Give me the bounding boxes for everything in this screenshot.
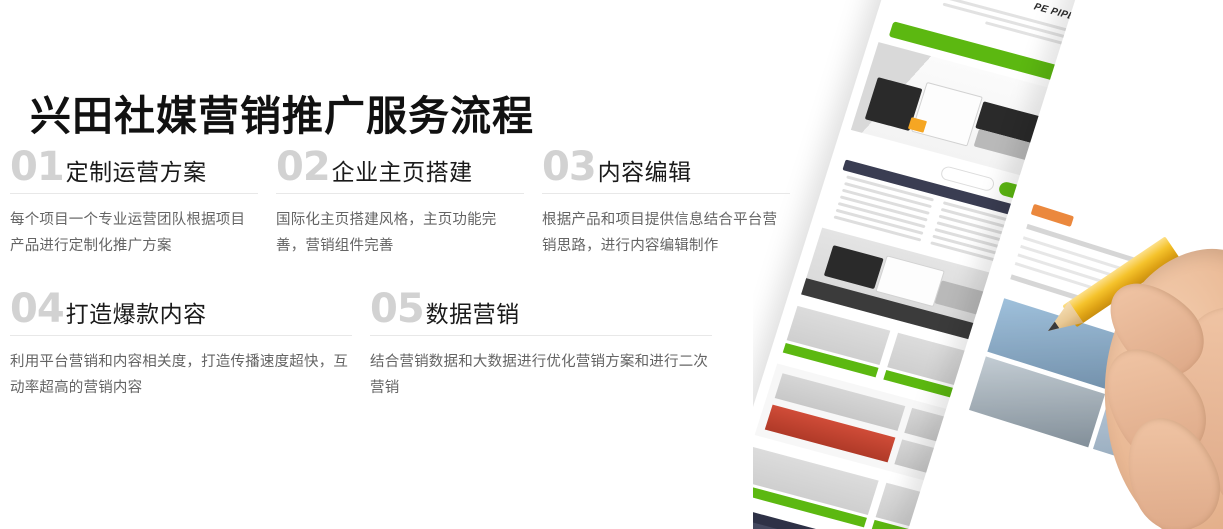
step-number: 03 <box>542 147 596 187</box>
step-label: 内容编辑 <box>598 161 692 184</box>
step-header: 01 定制运营方案 <box>10 147 258 194</box>
step-description: 利用平台营销和内容相关度，打造传播速度超快，互动率超高的营销内容 <box>10 349 352 401</box>
promo-banner: ||4 XINTONG PE PIPE EXTRUSION LINE <box>0 0 1223 529</box>
step-description: 每个项目一个专业运营团队根据项目产品进行定制化推广方案 <box>10 207 258 259</box>
paper-accent-chip <box>1031 204 1074 227</box>
step-header: 03 内容编辑 <box>542 147 790 194</box>
steps-row-one: 01 定制运营方案 每个项目一个专业运营团队根据项目产品进行定制化推广方案 02… <box>10 147 820 259</box>
artwork-region: ||4 XINTONG PE PIPE EXTRUSION LINE <box>753 0 1223 529</box>
step-description: 根据产品和项目提供信息结合平台营销思路，进行内容编辑制作 <box>542 207 790 259</box>
step-item-03: 03 内容编辑 根据产品和项目提供信息结合平台营销思路，进行内容编辑制作 <box>542 147 790 259</box>
step-label: 打造爆款内容 <box>66 303 207 326</box>
step-number: 04 <box>10 289 64 329</box>
step-label: 数据营销 <box>426 303 520 326</box>
step-item-01: 01 定制运营方案 每个项目一个专业运营团队根据项目产品进行定制化推广方案 <box>10 147 258 259</box>
step-number: 05 <box>370 289 424 329</box>
step-header: 05 数据营销 <box>370 289 712 336</box>
machine-part <box>911 82 983 147</box>
steps-row-two: 04 打造爆款内容 利用平台营销和内容相关度，打造传播速度超快，互动率超高的营销… <box>10 289 820 401</box>
machine-part <box>824 245 884 289</box>
page-title: 兴田社媒营销推广服务流程 <box>30 82 534 142</box>
step-header: 04 打造爆款内容 <box>10 289 352 336</box>
step-item-02: 02 企业主页搭建 国际化主页搭建风格，主页功能完善，营销组件完善 <box>276 147 524 259</box>
step-header: 02 企业主页搭建 <box>276 147 524 194</box>
step-item-04: 04 打造爆款内容 利用平台营销和内容相关度，打造传播速度超快，互动率超高的营销… <box>10 289 352 401</box>
step-label: 企业主页搭建 <box>332 161 473 184</box>
step-item-05: 05 数据营销 结合营销数据和大数据进行优化营销方案和进行二次营销 <box>370 289 712 401</box>
step-number: 02 <box>276 147 330 187</box>
step-description: 结合营销数据和大数据进行优化营销方案和进行二次营销 <box>370 349 712 401</box>
step-description: 国际化主页搭建风格，主页功能完善，营销组件完善 <box>276 207 524 259</box>
steps-grid: 01 定制运营方案 每个项目一个专业运营团队根据项目产品进行定制化推广方案 02… <box>10 147 820 401</box>
step-number: 01 <box>10 147 64 187</box>
step-label: 定制运营方案 <box>66 161 207 184</box>
